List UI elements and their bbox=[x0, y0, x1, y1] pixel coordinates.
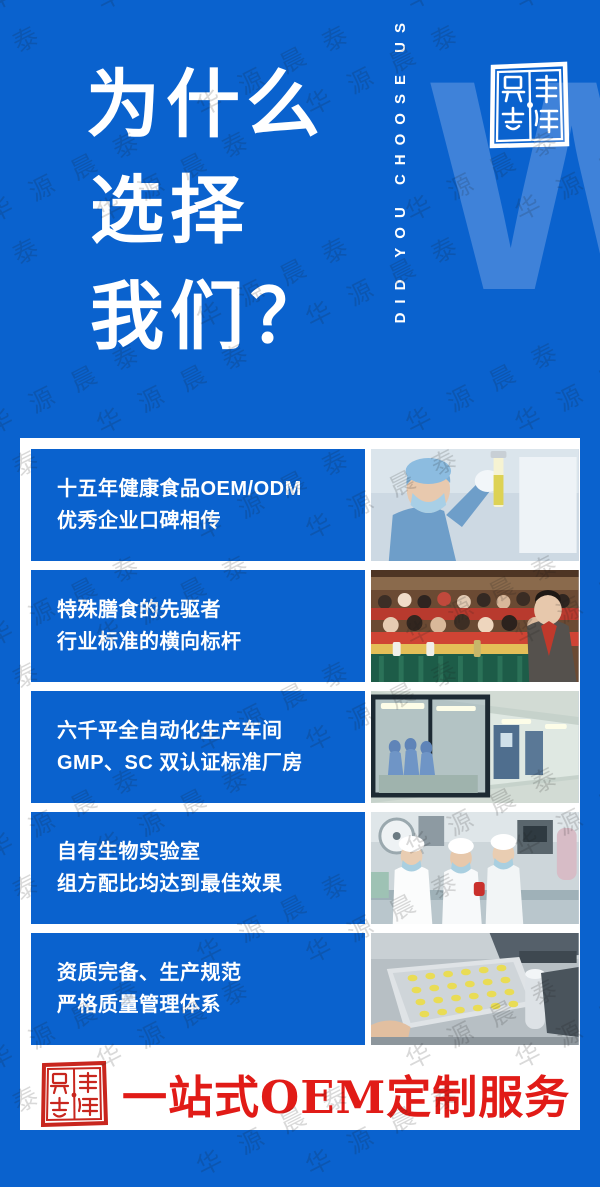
feature-card-text: 十五年健康食品OEM/ODM 优秀企业口碑相传 bbox=[31, 449, 365, 561]
watermark-text: 华 源 晨 泰 bbox=[89, 1179, 259, 1187]
header-section: 为什么 选择 我们？ DID YOU CHOOSE US bbox=[0, 0, 600, 430]
feature-line-2: 行业标准的横向标杆 bbox=[57, 626, 365, 658]
feature-card[interactable]: 自有生物实验室 组方配比均达到最佳效果 bbox=[31, 812, 579, 924]
feature-line-2: 优秀企业口碑相传 bbox=[57, 505, 365, 537]
feature-photo-cleanroom-corridor bbox=[371, 691, 579, 803]
feature-card-text: 特殊膳食的先驱者 行业标准的横向标杆 bbox=[31, 570, 365, 682]
feature-card[interactable]: 十五年健康食品OEM/ODM 优秀企业口碑相传 bbox=[31, 449, 579, 561]
feature-line-2: 严格质量管理体系 bbox=[57, 989, 365, 1021]
feature-line-1: 六千平全自动化生产车间 bbox=[57, 715, 365, 747]
feature-card[interactable]: 六千平全自动化生产车间 GMP、SC 双认证标准厂房 bbox=[31, 691, 579, 803]
feature-card-text: 资质完备、生产规范 严格质量管理体系 bbox=[31, 933, 365, 1045]
feature-card-text: 自有生物实验室 组方配比均达到最佳效果 bbox=[31, 812, 365, 924]
headline-line-3: 我们？ bbox=[86, 264, 386, 370]
headline-line-1: 为什么 bbox=[86, 52, 386, 158]
feature-card[interactable]: 资质完备、生产规范 严格质量管理体系 bbox=[31, 933, 579, 1045]
feature-line-1: 特殊膳食的先驱者 bbox=[57, 594, 365, 626]
feature-line-1: 资质完备、生产规范 bbox=[57, 957, 365, 989]
feature-photo-lab-technician bbox=[371, 449, 579, 561]
feature-card[interactable]: 特殊膳食的先驱者 行业标准的横向标杆 bbox=[31, 570, 579, 682]
feature-photo-tablet-packaging bbox=[371, 933, 579, 1045]
watermark-row: 华 源 晨 泰华 源 晨 泰华 源 晨 泰华 源 晨 泰华 源 晨 泰华 源 晨… bbox=[0, 1125, 600, 1187]
company-seal-icon bbox=[488, 58, 570, 150]
features-panel: 十五年健康食品OEM/ODM 优秀企业口碑相传 bbox=[20, 438, 580, 1130]
page-title: 为什么 选择 我们？ bbox=[86, 52, 386, 370]
cta-banner[interactable]: 一站式OEM定制服务 bbox=[20, 1056, 580, 1130]
watermark-text: 华 源 晨 泰 bbox=[398, 1178, 568, 1187]
feature-line-2: 组方配比均达到最佳效果 bbox=[57, 868, 365, 900]
features-card-list: 十五年健康食品OEM/ODM 优秀企业口碑相传 bbox=[31, 449, 580, 1045]
feature-photo-conference-hall bbox=[371, 570, 579, 682]
headline-line-2: 选择 bbox=[86, 158, 386, 264]
feature-photo-production-line-workers bbox=[371, 812, 579, 924]
cta-label: 一站式OEM定制服务 bbox=[122, 1061, 570, 1126]
feature-line-2: GMP、SC 双认证标准厂房 bbox=[57, 747, 365, 779]
watermark-text: 华 源 晨 泰 bbox=[0, 1180, 150, 1187]
vertical-english-caption: DID YOU CHOOSE US bbox=[392, 14, 420, 394]
feature-line-1: 自有生物实验室 bbox=[57, 836, 365, 868]
poster-root: WHY 为什么 选择 我们？ DID YOU CHOOSE US bbox=[0, 0, 600, 1187]
company-seal-red-icon bbox=[40, 1059, 108, 1127]
feature-card-text: 六千平全自动化生产车间 GMP、SC 双认证标准厂房 bbox=[31, 691, 365, 803]
feature-line-1: 十五年健康食品OEM/ODM bbox=[57, 473, 365, 505]
vertical-caption-text: DID YOU CHOOSE US bbox=[392, 14, 409, 323]
